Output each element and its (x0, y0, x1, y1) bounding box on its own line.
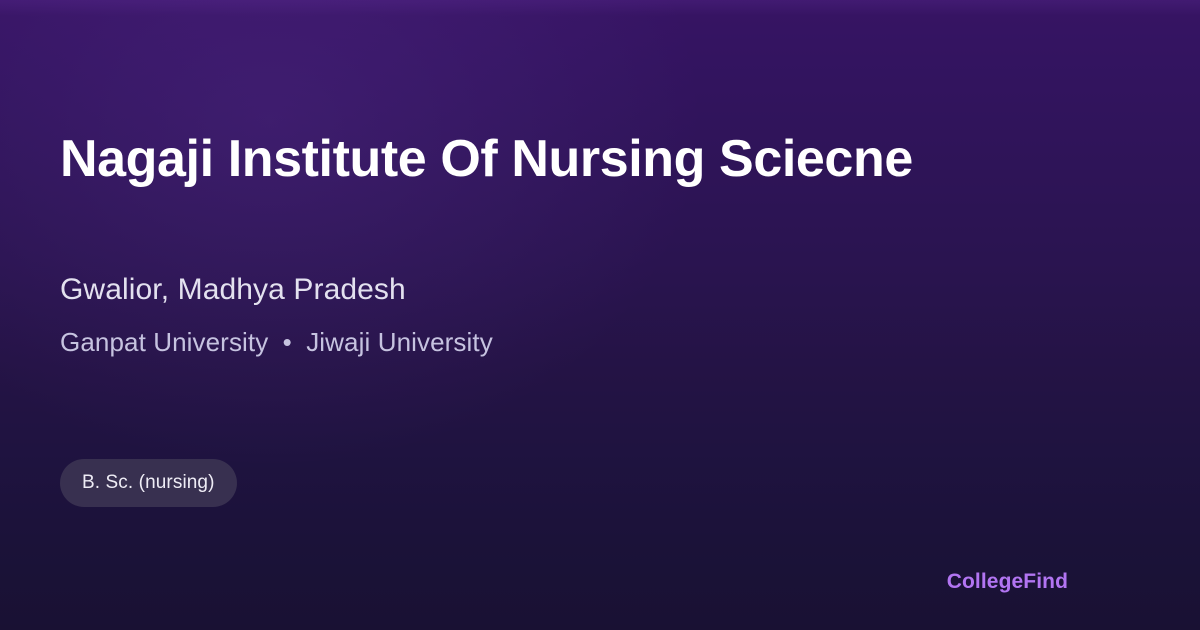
og-preview-card: Nagaji Institute Of Nursing Sciecne Gwal… (0, 0, 1200, 630)
brand-wordmark: CollegeFind (947, 569, 1068, 595)
affiliation-separator-bullet: • (283, 325, 292, 359)
affiliation-primary: Ganpat University (60, 327, 268, 357)
card-content: Nagaji Institute Of Nursing Sciecne Gwal… (60, 0, 1140, 630)
location-text: Gwalior, Madhya Pradesh (60, 271, 406, 309)
course-tag-badge: B. Sc. (nursing) (60, 459, 237, 507)
affiliations-line: Ganpat University • Jiwaji University (60, 325, 493, 359)
affiliation-secondary: Jiwaji University (306, 327, 493, 357)
course-tag-list: B. Sc. (nursing) (60, 459, 237, 507)
page-title: Nagaji Institute Of Nursing Sciecne (60, 128, 1120, 190)
